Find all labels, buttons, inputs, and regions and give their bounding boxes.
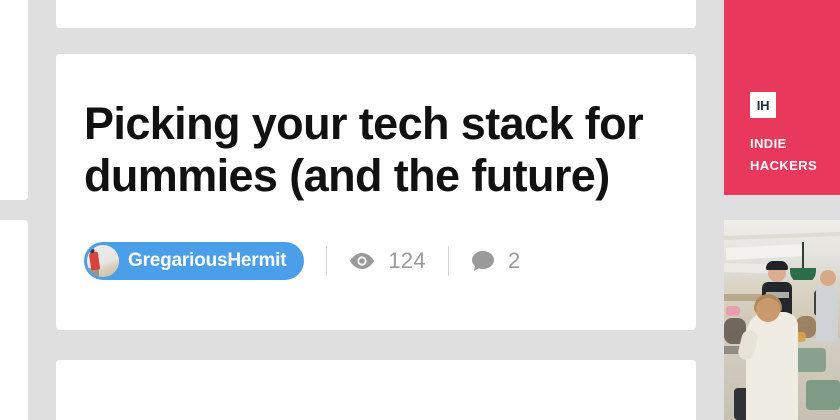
views-count: 124: [388, 248, 426, 274]
brand-block: IH INDIE HACKERS: [750, 92, 817, 177]
eye-icon: [349, 252, 375, 270]
post-title[interactable]: Picking your tech stack for dummies (and…: [84, 98, 644, 202]
brand-name-line-2: HACKERS: [750, 155, 817, 177]
post-card-previous[interactable]: [56, 0, 696, 28]
indie-hackers-logo-icon[interactable]: IH: [750, 92, 776, 118]
author-badge[interactable]: GregariousHermit: [84, 242, 304, 280]
meta-divider-2: [448, 246, 449, 276]
comments-count: 2: [508, 248, 521, 274]
post-card[interactable]: Picking your tech stack for dummies (and…: [56, 54, 696, 330]
partial-card-left-upper[interactable]: [0, 0, 28, 200]
comment-icon: [471, 250, 495, 272]
avatar: [87, 245, 119, 277]
brand-name: INDIE HACKERS: [750, 133, 817, 177]
post-meta-row: GregariousHermit 124: [84, 242, 668, 280]
right-sidebar: IH INDIE HACKERS: [724, 0, 840, 420]
left-partial-column: [0, 0, 28, 420]
post-feed: Picking your tech stack for dummies (and…: [56, 0, 696, 420]
post-card-next[interactable]: [56, 360, 696, 420]
cafe-photo[interactable]: [724, 220, 840, 420]
views-stat: 124: [349, 248, 426, 274]
meta-divider-1: [326, 246, 327, 276]
author-name: GregariousHermit: [128, 250, 286, 272]
partial-card-left-lower[interactable]: [0, 220, 28, 420]
brand-panel[interactable]: IH INDIE HACKERS: [724, 0, 840, 195]
brand-name-line-1: INDIE: [750, 133, 817, 155]
comments-stat: 2: [471, 248, 521, 274]
